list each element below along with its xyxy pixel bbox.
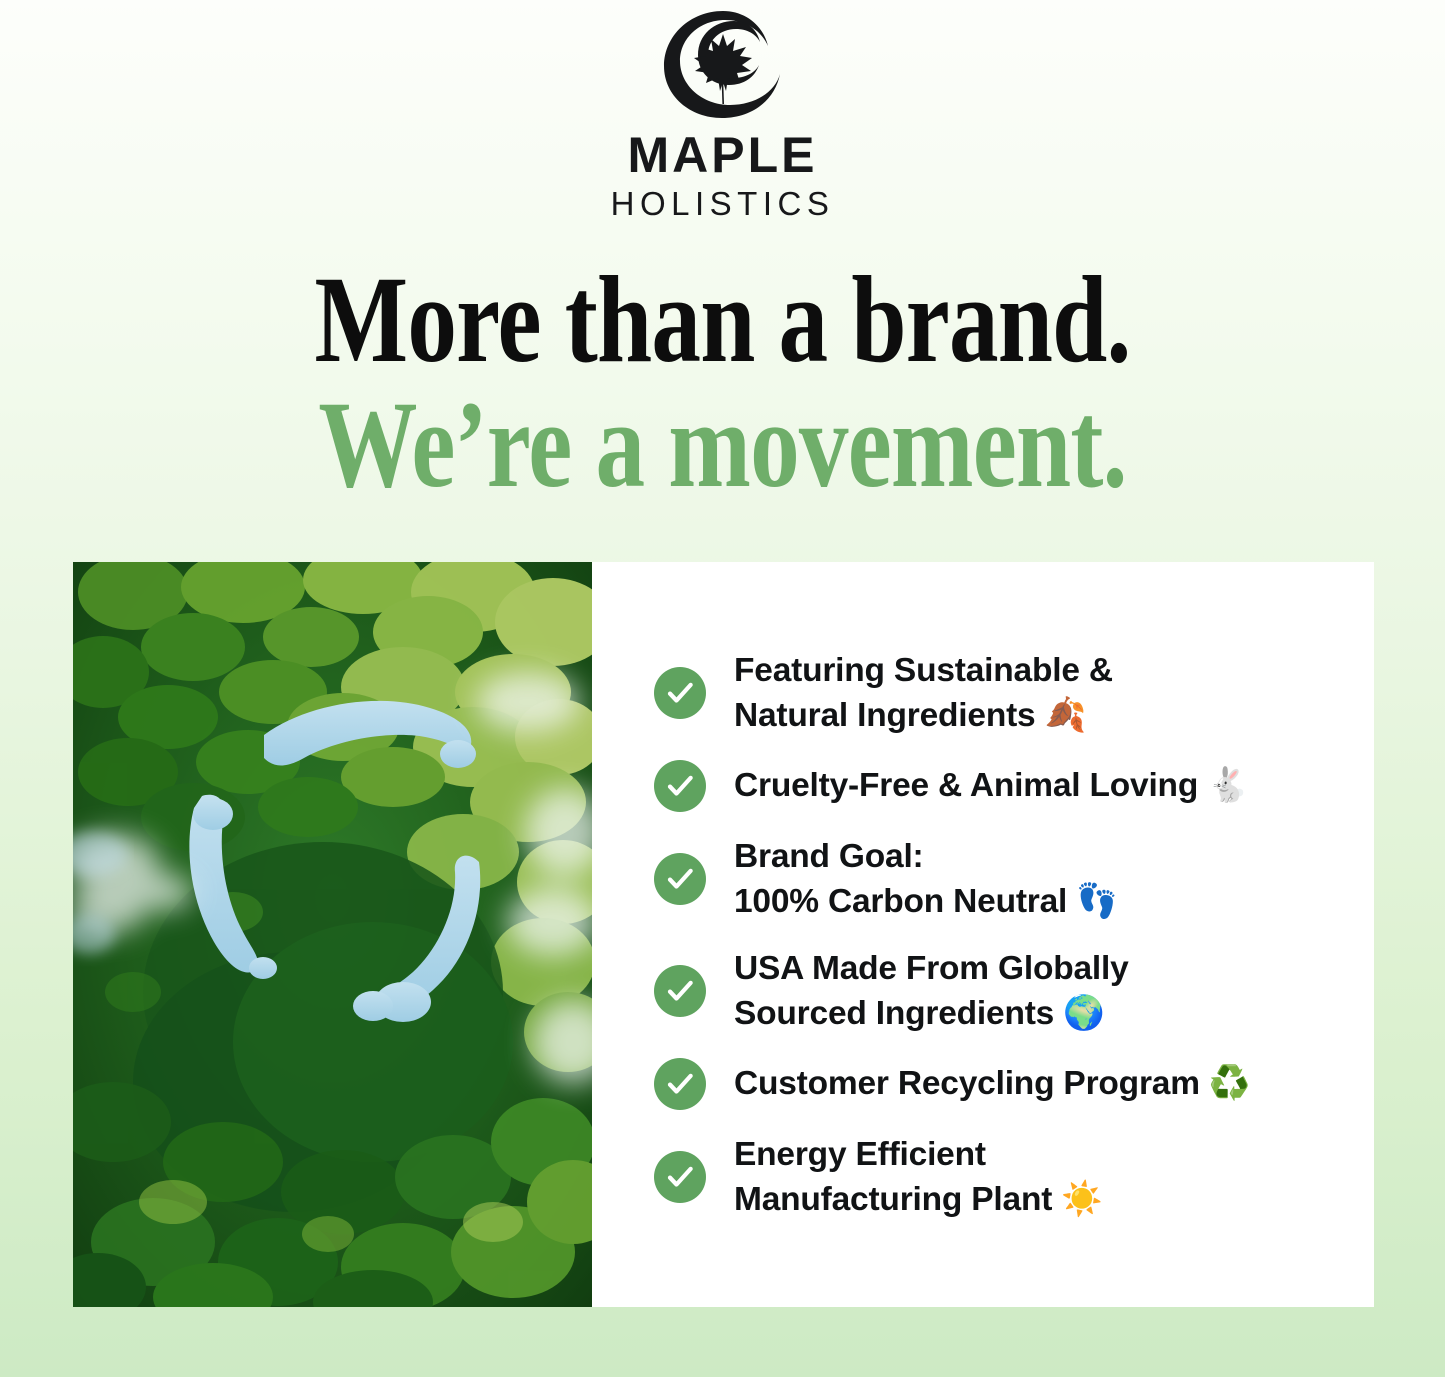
check-circle-icon	[654, 1151, 706, 1203]
check-circle-icon	[654, 667, 706, 719]
feature-label: USA Made From Globally Sourced Ingredien…	[734, 946, 1129, 1036]
features-panel: Featuring Sustainable & Natural Ingredie…	[592, 562, 1374, 1307]
check-circle-icon	[654, 1058, 706, 1110]
feature-label: Cruelty-Free & Animal Loving 🐇	[734, 763, 1249, 808]
forest-recycling-aerial-photo	[73, 562, 592, 1307]
feature-item: Cruelty-Free & Animal Loving 🐇	[654, 760, 1374, 812]
feature-label: Featuring Sustainable & Natural Ingredie…	[734, 648, 1113, 738]
promo-banner: MAPLE HOLISTICS More than a brand. We’re…	[0, 0, 1445, 1377]
headline: More than a brand. We’re a movement.	[0, 262, 1445, 503]
feature-item: USA Made From Globally Sourced Ingredien…	[654, 946, 1374, 1036]
brand-name-primary: MAPLE	[0, 130, 1445, 180]
feature-item: Energy Efficient Manufacturing Plant ☀️	[654, 1132, 1374, 1222]
maple-leaf-crescent-logo-icon	[656, 8, 790, 120]
feature-item: Customer Recycling Program ♻️	[654, 1058, 1374, 1110]
feature-item: Featuring Sustainable & Natural Ingredie…	[654, 648, 1374, 738]
headline-line-1: More than a brand.	[145, 262, 1301, 379]
brand-name-secondary: HOLISTICS	[0, 184, 1445, 224]
brand-wordmark: MAPLE HOLISTICS	[0, 130, 1445, 224]
feature-label: Customer Recycling Program ♻️	[734, 1061, 1250, 1106]
content-row: Featuring Sustainable & Natural Ingredie…	[73, 562, 1374, 1307]
feature-label: Energy Efficient Manufacturing Plant ☀️	[734, 1132, 1103, 1222]
feature-label: Brand Goal: 100% Carbon Neutral 👣	[734, 834, 1118, 924]
check-circle-icon	[654, 853, 706, 905]
brand-header: MAPLE HOLISTICS	[0, 0, 1445, 224]
check-circle-icon	[654, 760, 706, 812]
headline-line-2: We’re a movement.	[145, 387, 1301, 504]
feature-item: Brand Goal: 100% Carbon Neutral 👣	[654, 834, 1374, 924]
check-circle-icon	[654, 965, 706, 1017]
